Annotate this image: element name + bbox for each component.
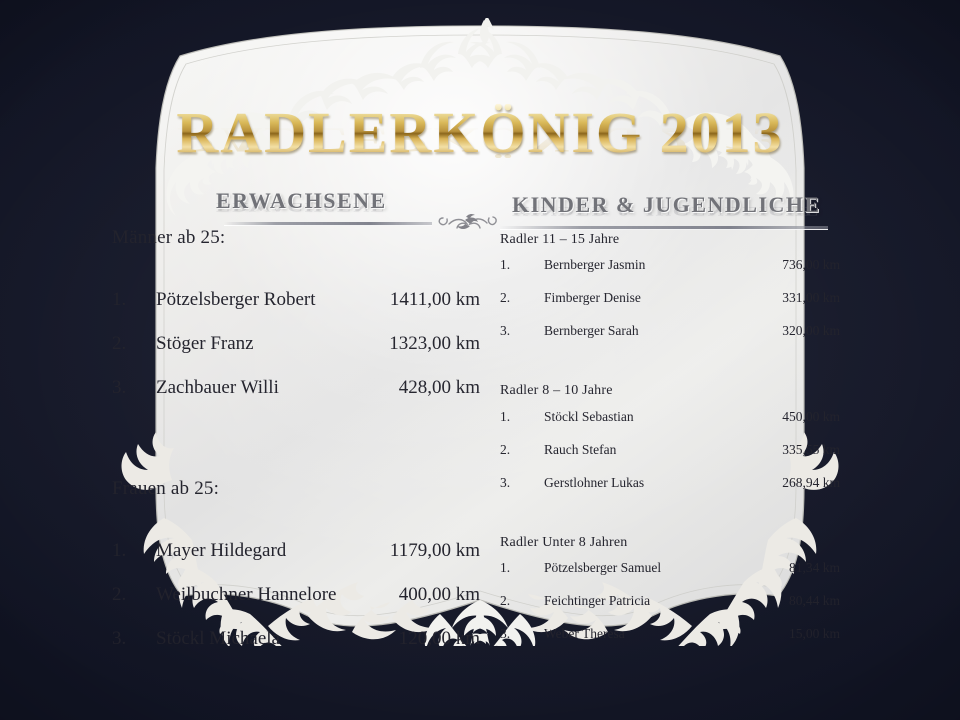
- rank-number: 1.: [112, 540, 156, 584]
- adults-column: Männer ab 25: 1. Pötzelsberger Robert 14…: [112, 228, 480, 672]
- rider-name: Rauch Stefan: [544, 442, 719, 475]
- title-text: RADLERKÖNIG 2013: [176, 104, 783, 162]
- rank-number: 3.: [500, 323, 544, 356]
- rank-number: 1.: [500, 257, 544, 290]
- table-row: 2. Stöger Franz 1323,00 km: [112, 333, 480, 377]
- rank-number: 3.: [112, 377, 156, 421]
- ranking-table: 1. Pötzelsberger Robert 1411,00 km 2. St…: [112, 289, 480, 421]
- table-row: 2. Weilbuchner Hannelore 400,00 km: [112, 584, 480, 628]
- rank-number: 3.: [112, 628, 156, 672]
- rank-number: 2.: [500, 442, 544, 475]
- distance: 81,34 km: [719, 560, 840, 593]
- children-column: Radler 11 – 15 Jahre 1. Bernberger Jasmi…: [500, 232, 840, 659]
- page-title: RADLERKÖNIG 2013: [0, 104, 960, 162]
- rider-name: Pötzelsberger Samuel: [544, 560, 719, 593]
- table-row: 1. Pötzelsberger Robert 1411,00 km: [112, 289, 480, 333]
- rider-name: Bernberger Sarah: [544, 323, 719, 356]
- distance: 1323,00 km: [346, 333, 480, 377]
- table-row: 3. Zachbauer Willi 428,00 km: [112, 377, 480, 421]
- rank-number: 2.: [112, 333, 156, 377]
- rider-name: Bernberger Jasmin: [544, 257, 719, 290]
- group-heading: Radler 11 – 15 Jahre: [500, 232, 840, 247]
- rider-name: Gerstlohner Lukas: [544, 475, 719, 508]
- rider-name: Stöckl Michaela: [156, 628, 346, 672]
- rank-number: 3.: [500, 626, 544, 659]
- distance: 428,00 km: [346, 377, 480, 421]
- distance: 400,00 km: [346, 584, 480, 628]
- rider-name: Zachbauer Willi: [156, 377, 346, 421]
- distance: 80,44 km: [719, 593, 840, 626]
- table-row: 3. Bernberger Sarah 320,00 km: [500, 323, 840, 356]
- rider-name: Fimberger Denise: [544, 290, 719, 323]
- rider-name: Pötzelsberger Robert: [156, 289, 346, 333]
- rider-name: Mayer Hildegard: [156, 540, 346, 584]
- ranking-table: 1. Stöckl Sebastian 450,00 km 2. Rauch S…: [500, 409, 840, 508]
- ranking-table: 1. Bernberger Jasmin 736,00 km 2. Fimber…: [500, 257, 840, 356]
- distance: 335,55 km: [719, 442, 840, 475]
- table-row: 3. Stöckl Michaela 120,00 km: [112, 628, 480, 672]
- divider-right: [500, 226, 828, 230]
- group-maenner-ab-25: Männer ab 25: 1. Pötzelsberger Robert 14…: [112, 228, 480, 421]
- rider-name: Weber Theresa: [544, 626, 719, 659]
- rank-number: 3.: [500, 475, 544, 508]
- table-row: 2. Feichtinger Patricia 80,44 km: [500, 593, 840, 626]
- group-heading: Frauen ab 25:: [112, 479, 480, 500]
- distance: 1411,00 km: [346, 289, 480, 333]
- table-row: 1. Bernberger Jasmin 736,00 km: [500, 257, 840, 290]
- rank-number: 2.: [112, 584, 156, 628]
- rank-number: 2.: [500, 290, 544, 323]
- distance: 450,00 km: [719, 409, 840, 442]
- rank-number: 1.: [112, 289, 156, 333]
- slide-stage: RADLERKÖNIG 2013 RADLERKÖNIG 2013 ERWACH…: [0, 0, 960, 720]
- distance: 120,00 km: [346, 628, 480, 672]
- distance: 268,94 km: [719, 475, 840, 508]
- table-row: 1. Mayer Hildegard 1179,00 km: [112, 540, 480, 584]
- subtitle-adults: ERWACHSENE: [216, 188, 387, 214]
- group-frauen-ab-25: Frauen ab 25: 1. Mayer Hildegard 1179,00…: [112, 479, 480, 672]
- rider-name: Feichtinger Patricia: [544, 593, 719, 626]
- distance: 320,00 km: [719, 323, 840, 356]
- distance: 1179,00 km: [346, 540, 480, 584]
- divider-left: [224, 222, 432, 226]
- group-heading: Männer ab 25:: [112, 228, 480, 249]
- ranking-table: 1. Mayer Hildegard 1179,00 km 2. Weilbuc…: [112, 540, 480, 672]
- table-row: 1. Stöckl Sebastian 450,00 km: [500, 409, 840, 442]
- table-row: 1. Pötzelsberger Samuel 81,34 km: [500, 560, 840, 593]
- rank-number: 1.: [500, 409, 544, 442]
- table-row: 3. Weber Theresa 15,00 km: [500, 626, 840, 659]
- distance: 15,00 km: [719, 626, 840, 659]
- group-radler-8-10: Radler 8 – 10 Jahre 1. Stöckl Sebastian …: [500, 383, 840, 507]
- rider-name: Weilbuchner Hannelore: [156, 584, 346, 628]
- table-row: 2. Rauch Stefan 335,55 km: [500, 442, 840, 475]
- rider-name: Stöckl Sebastian: [544, 409, 719, 442]
- group-radler-11-15: Radler 11 – 15 Jahre 1. Bernberger Jasmi…: [500, 232, 840, 356]
- distance: 736,00 km: [719, 257, 840, 290]
- distance: 331,00 km: [719, 290, 840, 323]
- rider-name: Stöger Franz: [156, 333, 346, 377]
- group-heading: Radler 8 – 10 Jahre: [500, 383, 840, 398]
- table-row: 2. Fimberger Denise 331,00 km: [500, 290, 840, 323]
- subtitle-children: KINDER & JUGENDLICHE: [512, 192, 821, 218]
- group-heading: Radler Unter 8 Jahren: [500, 535, 840, 550]
- group-radler-unter-8: Radler Unter 8 Jahren 1. Pötzelsberger S…: [500, 535, 840, 659]
- rank-number: 2.: [500, 593, 544, 626]
- ranking-table: 1. Pötzelsberger Samuel 81,34 km 2. Feic…: [500, 560, 840, 659]
- rank-number: 1.: [500, 560, 544, 593]
- table-row: 3. Gerstlohner Lukas 268,94 km: [500, 475, 840, 508]
